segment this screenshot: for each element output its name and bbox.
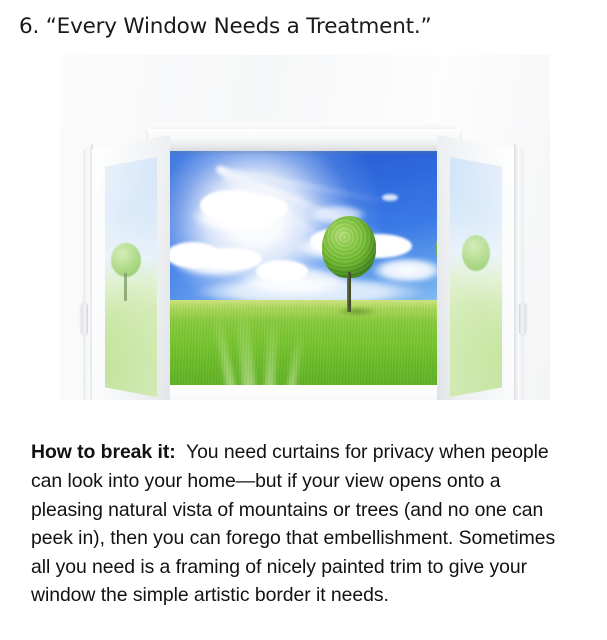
page-title: 6. “Every Window Needs a Treatment.”: [19, 14, 579, 39]
cloud: [382, 194, 398, 201]
window-handle-left: [82, 303, 88, 335]
window-head-casing: [148, 129, 460, 151]
field-track: [236, 312, 256, 393]
glass-sheen: [105, 157, 157, 397]
window-opening-view: [160, 150, 448, 393]
field-track: [264, 321, 278, 393]
window-handle-right: [519, 303, 525, 335]
body-lead-spacer: [176, 441, 186, 463]
body-lead-label: How to break it:: [31, 441, 176, 463]
cloud: [236, 196, 288, 220]
field-track: [286, 332, 304, 393]
lone-tree: [322, 216, 376, 314]
tree-shadow: [336, 306, 378, 317]
window-sash-left: [92, 135, 170, 400]
window-sash-right: [437, 135, 515, 400]
open-window-illustration: [0, 55, 607, 400]
sash-glass-left: [105, 157, 157, 397]
field-track: [212, 312, 237, 393]
body-paragraph-text: You need curtains for privacy when peopl…: [31, 441, 555, 606]
grass-field: [160, 300, 448, 393]
document-page: 6. “Every Window Needs a Treatment.”: [0, 0, 607, 640]
sash-outer-edge-left: [83, 143, 93, 400]
tree-canopy: [322, 216, 376, 278]
sash-outer-edge-right: [514, 143, 524, 400]
window-sill: [128, 385, 480, 400]
body-paragraph: How to break it: You need curtains for p…: [31, 438, 571, 610]
glass-sheen: [450, 157, 502, 397]
sash-glass-right: [450, 157, 502, 397]
